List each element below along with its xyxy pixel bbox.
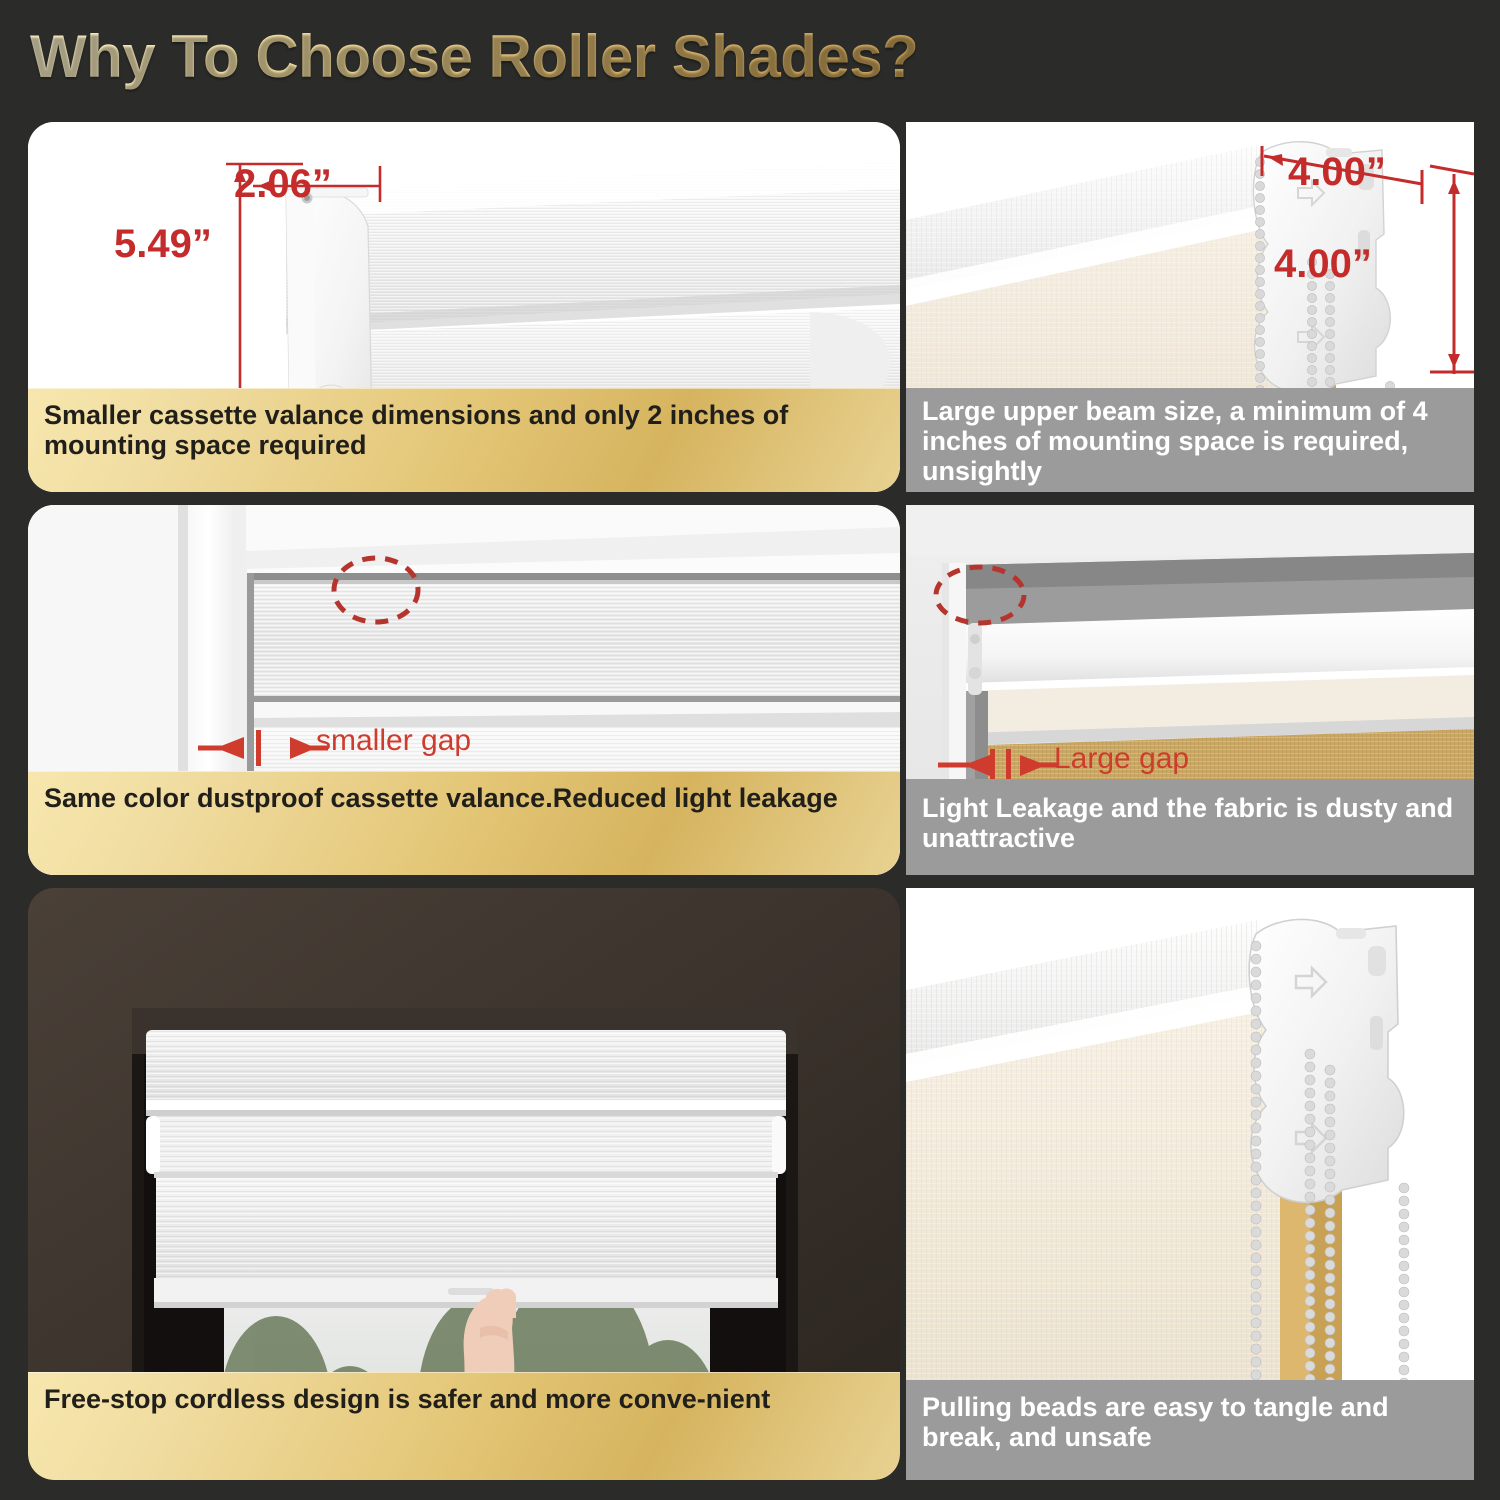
caption-pulling-beads: Pulling beads are easy to tangle and bre… xyxy=(906,1380,1474,1480)
smaller-gap-label: smaller gap xyxy=(316,724,471,758)
dimension-width-label: 4.00” xyxy=(1288,150,1386,195)
dimension-width-label: 2.06” xyxy=(234,162,332,207)
page-title: Why To Choose Roller Shades? xyxy=(30,22,918,91)
infographic-page: Why To Choose Roller Shades? xyxy=(0,0,1500,1500)
panel-cordless-design: Free-stop cordless design is safer and m… xyxy=(28,888,900,1480)
panel-cassette-valance: 5.49” 2.06” Smaller cassette valance dim… xyxy=(28,122,900,492)
panel-large-upper-beam: 4.00” 4.00” Large upper beam size, a min… xyxy=(906,122,1474,492)
panel-pulling-beads: Pulling beads are easy to tangle and bre… xyxy=(906,888,1474,1480)
dimension-height-label: 4.00” xyxy=(1274,242,1372,287)
caption-light-leakage: Light Leakage and the fabric is dusty an… xyxy=(906,779,1474,875)
panel-light-leakage: Large gap Light Leakage and the fabric i… xyxy=(906,505,1474,875)
caption-cassette-valance: Smaller cassette valance dimensions and … xyxy=(28,388,900,492)
panel-dustproof-valance: smaller gap Same color dustproof cassett… xyxy=(28,505,900,875)
caption-cordless-design: Free-stop cordless design is safer and m… xyxy=(28,1372,900,1480)
large-gap-label: Large gap xyxy=(1054,742,1189,776)
dimension-height-label: 5.49” xyxy=(114,222,212,267)
caption-dustproof-valance: Same color dustproof cassette valance.Re… xyxy=(28,771,900,875)
caption-large-upper-beam: Large upper beam size, a minimum of 4 in… xyxy=(906,388,1474,492)
